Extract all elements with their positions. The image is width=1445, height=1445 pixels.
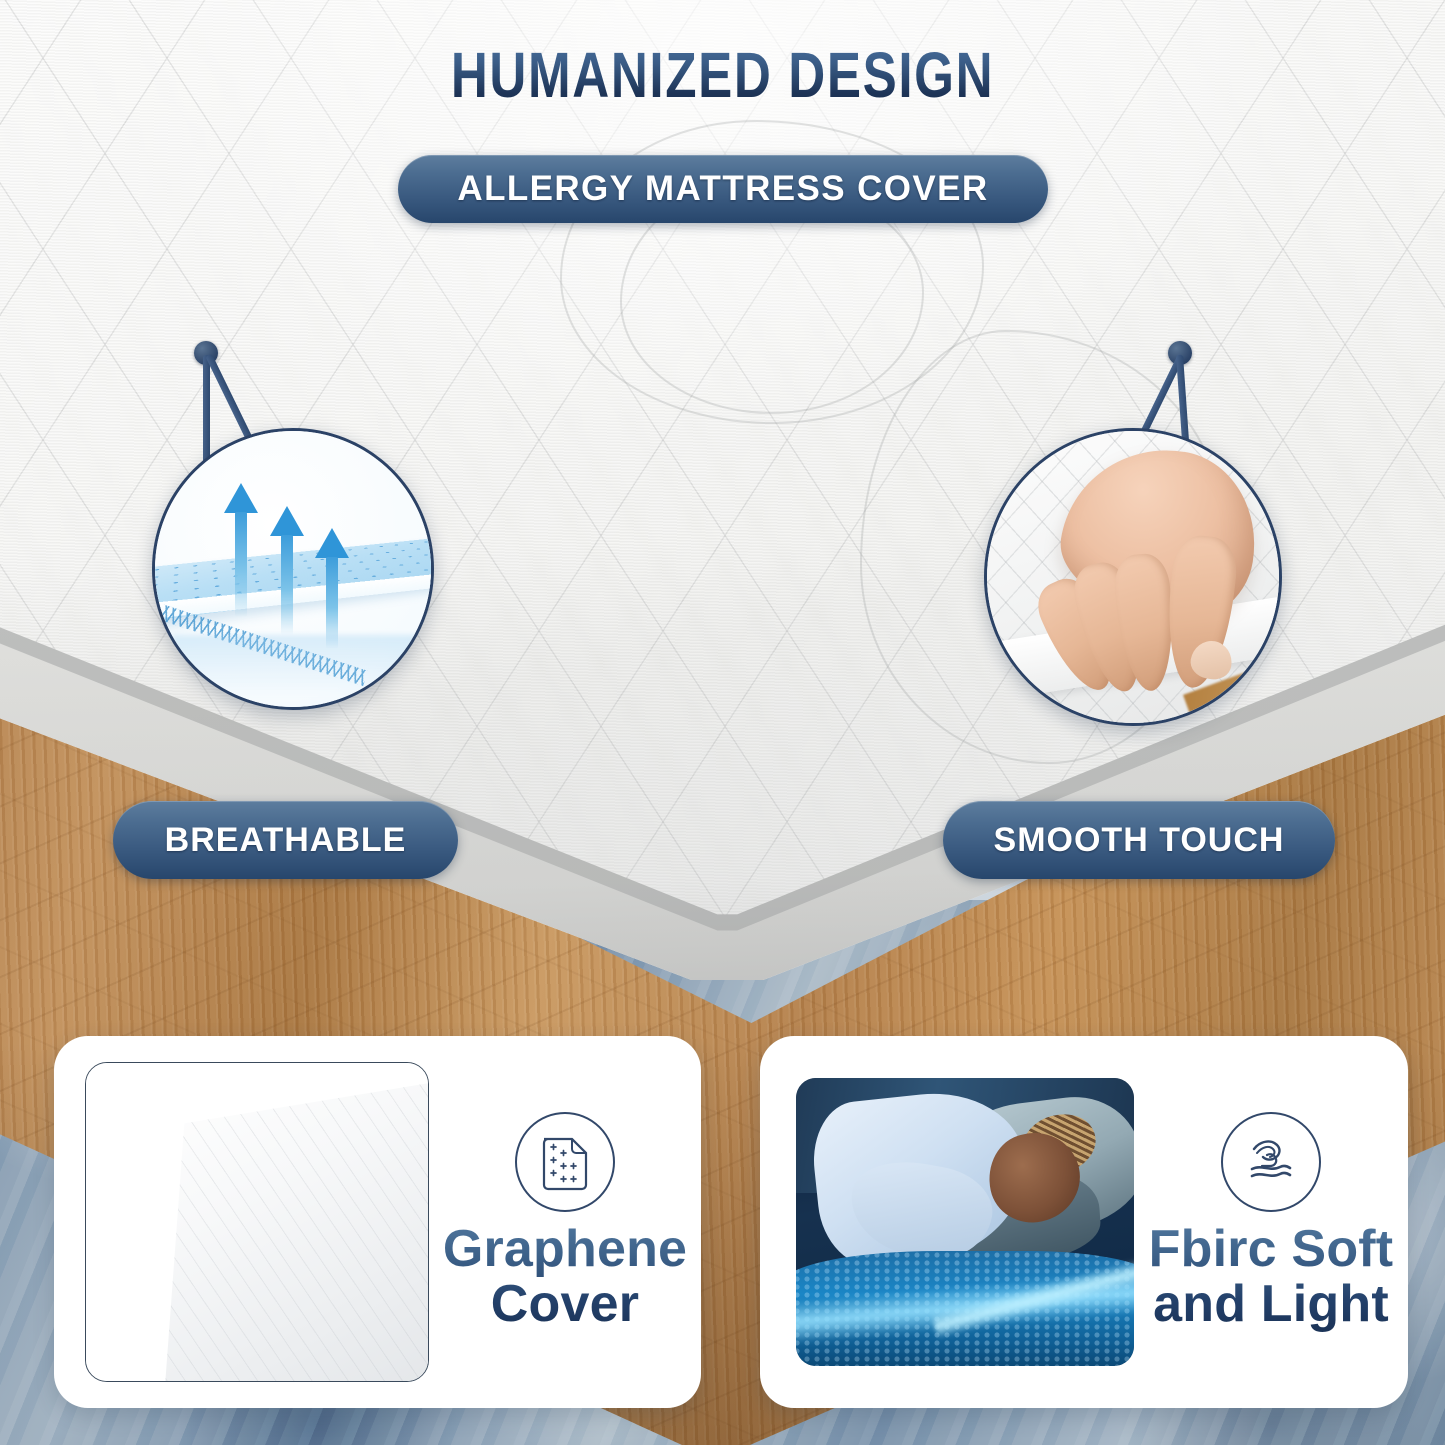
fabric-soft-text-block: Fbirc Soft and Light <box>1134 1112 1408 1332</box>
page-title: HUMANIZED DESIGN <box>145 38 1301 112</box>
product-marketing-image: HUMANIZED DESIGN HUMANIZED DESIGN ALLERG… <box>0 0 1445 1445</box>
fabric-soft-label-line2: and Light <box>1153 1275 1389 1333</box>
fabric-soft-label: Fbirc Soft and Light <box>1149 1222 1394 1332</box>
smooth-touch-illustration <box>987 431 1279 723</box>
breathable-illustration <box>155 431 431 707</box>
sleep-photo-backdrop <box>796 1078 1134 1366</box>
graphene-cover-text-block: Graphene Cover <box>429 1112 701 1332</box>
feature-card-graphene-cover: Graphene Cover <box>54 1036 701 1408</box>
breathable-callout-circle <box>152 428 434 710</box>
subtitle-pill: ALLERGY MATTRESS COVER <box>398 155 1048 223</box>
graphene-cover-label-line1: Graphene <box>443 1220 687 1278</box>
graphene-cover-label: Graphene Cover <box>443 1222 687 1332</box>
fabric-soft-label-line1: Fbirc Soft <box>1149 1220 1394 1278</box>
graphene-cover-product-image <box>85 1062 429 1382</box>
hand-touching-soft-surface-icon <box>1221 1112 1321 1212</box>
fabric-sheet-folded-corner-icon <box>515 1112 615 1212</box>
sleeping-person-image <box>796 1078 1134 1366</box>
smooth-touch-pill: SMOOTH TOUCH <box>943 801 1335 879</box>
smooth-touch-callout-circle <box>984 428 1282 726</box>
breathable-pill: BREATHABLE <box>113 801 458 879</box>
fabric-reflection <box>172 635 426 696</box>
feature-card-fabric-soft-and-light: Fbirc Soft and Light <box>760 1036 1408 1408</box>
graphene-cover-label-line2: Cover <box>491 1275 639 1333</box>
